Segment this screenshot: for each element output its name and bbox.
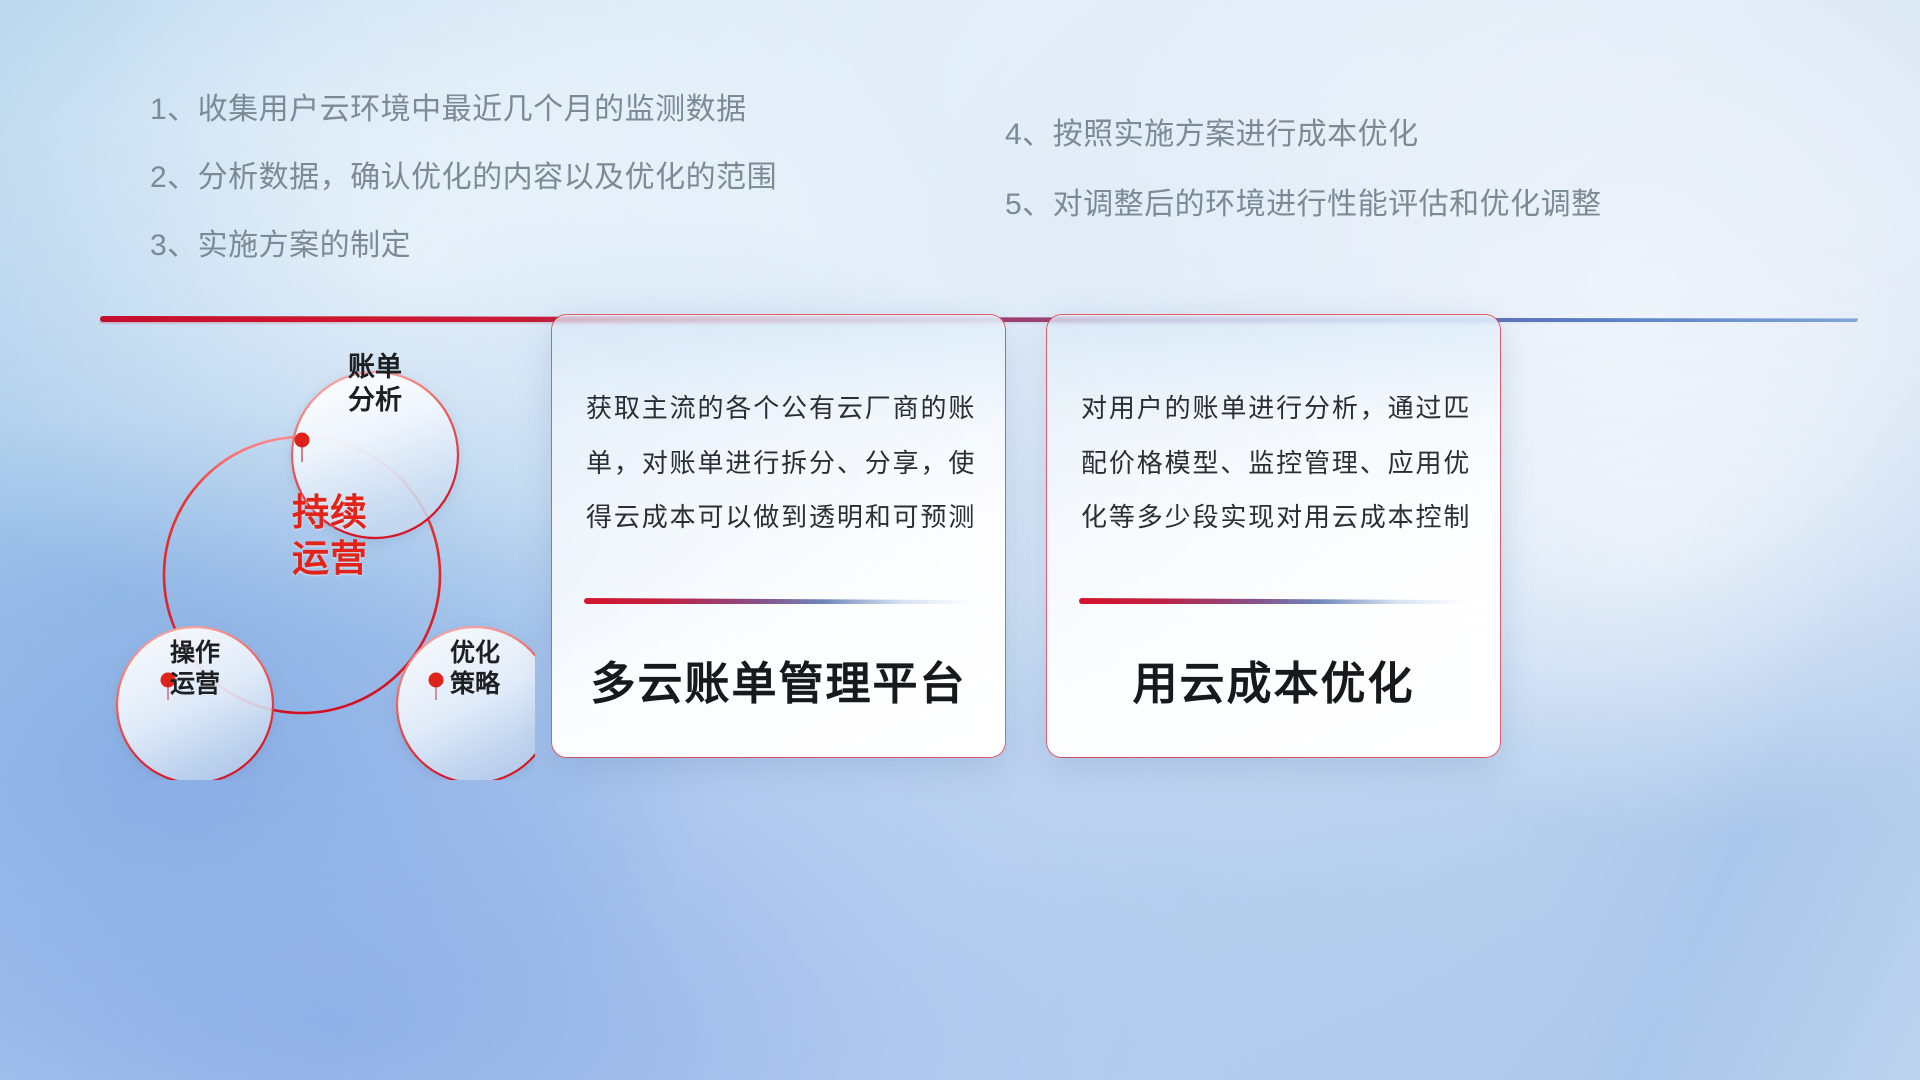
card-body-text: 对用户的账单进行分析，通过匹配价格模型、监控管理、应用优化等多少段实现对用云成本… [1081,381,1470,545]
feature-cards: 获取主流的各个公有云厂商的账单，对账单进行拆分、分享，使得云成本可以做到透明和可… [0,314,1920,764]
steps-left-column: 1、收集用户云环境中最近几个月的监测数据 2、分析数据，确认优化的内容以及优化的… [150,95,777,299]
steps-right-column: 4、按照实施方案进行成本优化 5、对调整后的环境进行性能评估和优化调整 [1005,120,1602,260]
background-glow-bottom-left [38,756,921,1080]
card-divider [1079,598,1465,604]
step-item-4: 4、按照实施方案进行成本优化 [1005,120,1602,150]
card-title: 用云成本优化 [1047,647,1500,712]
card-multi-cloud-billing-platform[interactable]: 获取主流的各个公有云厂商的账单，对账单进行拆分、分享，使得云成本可以做到透明和可… [551,314,1006,758]
step-item-1: 1、收集用户云环境中最近几个月的监测数据 [150,95,777,125]
card-cloud-cost-optimization[interactable]: 对用户的账单进行分析，通过匹配价格模型、监控管理、应用优化等多少段实现对用云成本… [1046,314,1501,758]
card-divider [584,598,970,604]
step-item-3: 3、实施方案的制定 [150,231,777,261]
card-title: 多云账单管理平台 [552,647,1005,712]
card-body-text: 获取主流的各个公有云厂商的账单，对账单进行拆分、分享，使得云成本可以做到透明和可… [586,381,975,545]
step-item-2: 2、分析数据，确认优化的内容以及优化的范围 [150,163,777,193]
step-item-5: 5、对调整后的环境进行性能评估和优化调整 [1005,190,1602,220]
